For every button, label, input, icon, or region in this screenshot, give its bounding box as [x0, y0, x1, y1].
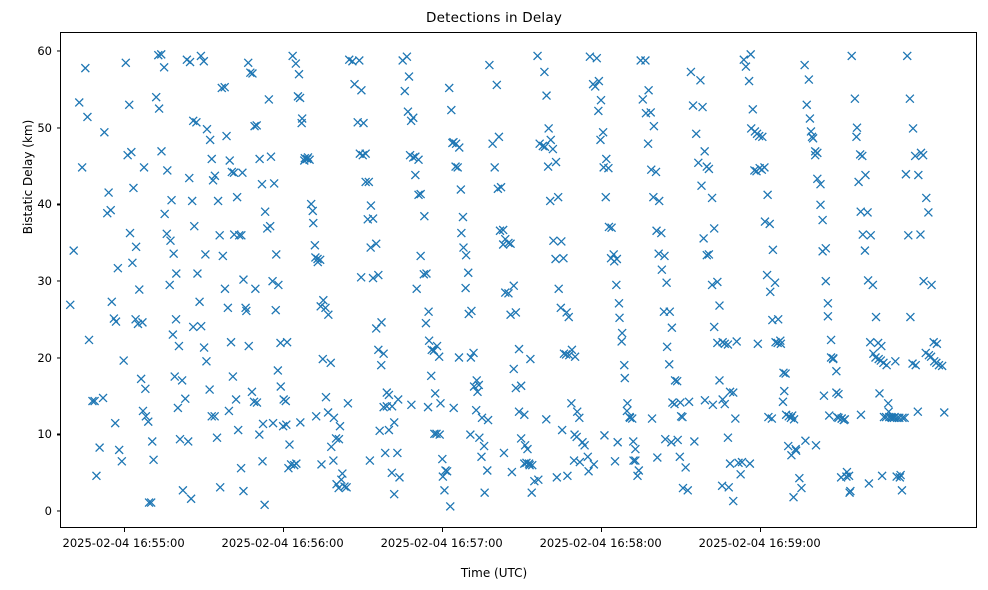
- x-tick-mark: [442, 528, 443, 532]
- y-tick-label: 30: [12, 274, 52, 288]
- x-tick-label: 2025-02-04 16:55:00: [63, 536, 185, 550]
- y-tick-label: 0: [12, 504, 52, 518]
- x-tick-label: 2025-02-04 16:56:00: [222, 536, 344, 550]
- x-tick-label: 2025-02-04 16:59:00: [699, 536, 821, 550]
- x-tick-mark: [601, 528, 602, 532]
- x-tick-label: 2025-02-04 16:57:00: [381, 536, 503, 550]
- y-tick-mark: [57, 127, 61, 128]
- y-tick-label: 40: [12, 197, 52, 211]
- y-tick-label: 10: [12, 427, 52, 441]
- plot-axes: [60, 32, 977, 528]
- y-tick-label: 50: [12, 121, 52, 135]
- y-tick-mark: [57, 51, 61, 52]
- y-axis-label: Bistatic Delay (km): [21, 77, 35, 277]
- y-tick-label: 20: [12, 351, 52, 365]
- x-tick-mark: [760, 528, 761, 532]
- x-axis-label: Time (UTC): [0, 566, 988, 580]
- matplotlib-figure: Detections in Delay Bistatic Delay (km) …: [0, 0, 988, 590]
- x-tick-mark: [124, 528, 125, 532]
- y-tick-label: 60: [12, 44, 52, 58]
- y-tick-mark: [57, 281, 61, 282]
- scatter-layer: [61, 33, 976, 527]
- x-tick-label: 2025-02-04 16:58:00: [540, 536, 662, 550]
- x-tick-mark: [283, 528, 284, 532]
- y-tick-mark: [57, 434, 61, 435]
- y-tick-mark: [57, 357, 61, 358]
- y-tick-mark: [57, 204, 61, 205]
- chart-title: Detections in Delay: [0, 10, 988, 26]
- y-tick-mark: [57, 511, 61, 512]
